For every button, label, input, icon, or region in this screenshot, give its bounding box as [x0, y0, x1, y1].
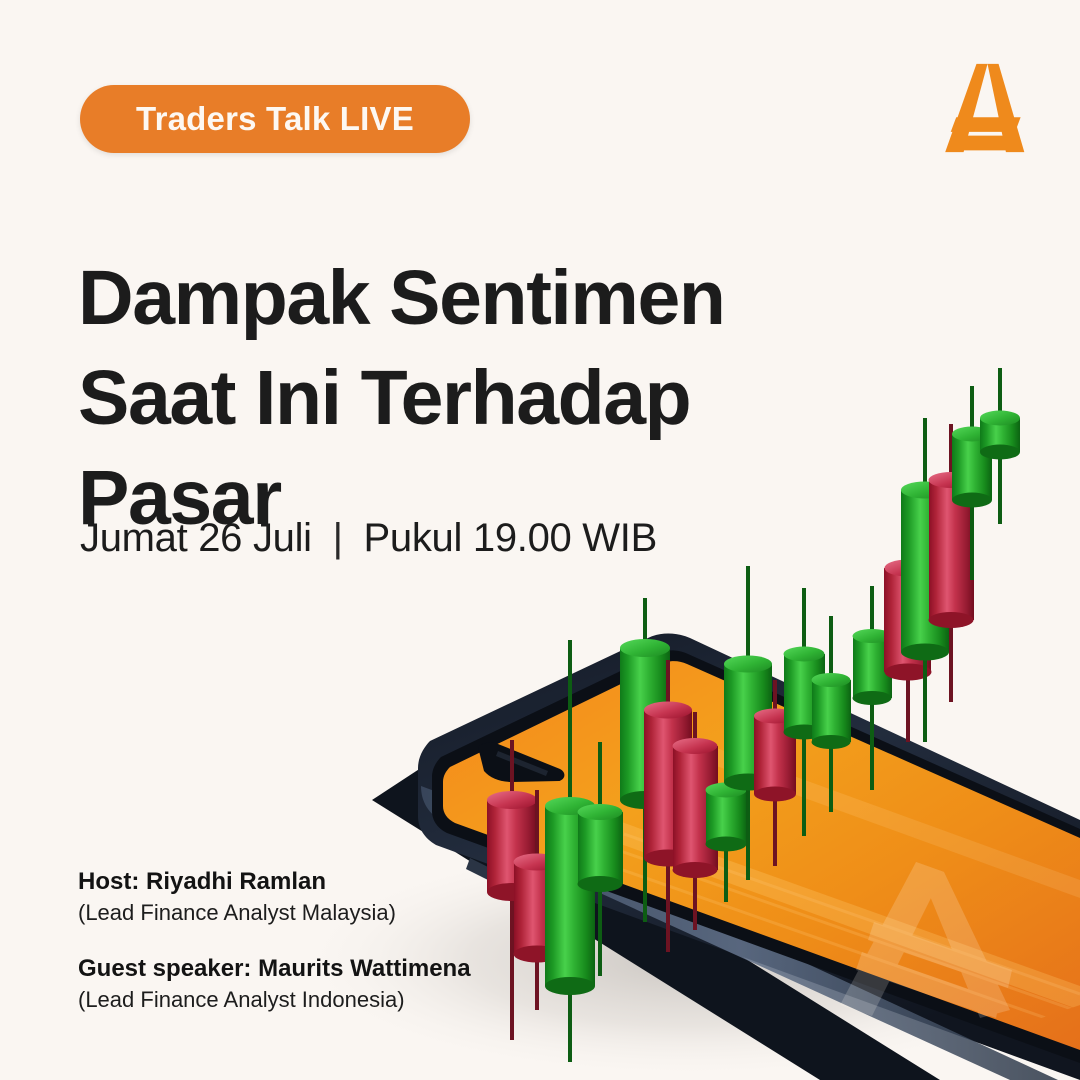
- candle-12-up: [812, 616, 852, 812]
- candle-10-down: [754, 680, 796, 866]
- candle-14-down: [884, 508, 932, 742]
- candle-4-up: [578, 742, 624, 976]
- candle-17-up: [952, 386, 992, 580]
- promo-poster: Traders Talk LIVE Dampak Sentimen Saat I…: [0, 0, 1080, 1080]
- ascendex-a-logo: [936, 60, 1028, 156]
- datetime-separator: |: [323, 516, 353, 560]
- phone-rim-highlight: [421, 786, 1058, 1080]
- page-title: Dampak Sentimen Saat Ini Terhadap Pasar: [78, 248, 798, 548]
- host-role: (Lead Finance Analyst Malaysia): [78, 898, 471, 927]
- guest-role: (Lead Finance Analyst Indonesia): [78, 985, 471, 1014]
- live-badge[interactable]: Traders Talk LIVE: [80, 85, 470, 153]
- credit-guest: Guest speaker: Maurits Wattimena (Lead F…: [78, 953, 471, 1014]
- event-time: Pukul 19.00 WIB: [364, 516, 657, 560]
- candle-16-down: [929, 424, 975, 702]
- phone-volume-button: [466, 858, 512, 890]
- phone-bezel: [432, 650, 1080, 1063]
- phone-body: [418, 634, 1080, 1080]
- headline-line-1: Dampak Sentimen: [78, 248, 798, 348]
- credit-host: Host: Riyadhi Ramlan (Lead Finance Analy…: [78, 866, 471, 927]
- phone-power-button: [521, 886, 548, 907]
- candle-18-up: [980, 368, 1020, 524]
- candle-9-up: [724, 566, 772, 880]
- candle-11-up: [784, 588, 826, 836]
- live-badge-label: Traders Talk LIVE: [136, 100, 414, 138]
- speaker-credits: Host: Riyadhi Ramlan (Lead Finance Analy…: [78, 866, 471, 1014]
- screen-glare-streaks: [560, 742, 1080, 1010]
- candle-15-up: [901, 418, 949, 742]
- screen-watermark-logo: [840, 862, 1012, 1018]
- phone-earpiece-speaker: [496, 751, 548, 776]
- smartphone: [372, 634, 1080, 1080]
- phone-notch: [478, 743, 564, 782]
- candle-6-down: [644, 660, 692, 952]
- guest-name: Guest speaker: Maurits Wattimena: [78, 953, 471, 985]
- event-date: Jumat 26 Juli: [80, 516, 312, 560]
- event-datetime: Jumat 26 Juli | Pukul 19.00 WIB: [80, 516, 657, 561]
- phone-screen: [443, 661, 1080, 1050]
- candle-5-up: [620, 598, 670, 922]
- headline-line-2: Saat Ini Terhadap: [78, 348, 798, 448]
- screen-hairlines: [600, 834, 1080, 1030]
- candle-8-up: [706, 740, 748, 902]
- candle-13-up: [853, 586, 893, 790]
- candle-2-down: [514, 790, 562, 1010]
- candle-1-down: [487, 740, 537, 1040]
- candle-3-up: [545, 640, 595, 1062]
- candle-7-down: [673, 712, 719, 930]
- host-name: Host: Riyadhi Ramlan: [78, 866, 471, 898]
